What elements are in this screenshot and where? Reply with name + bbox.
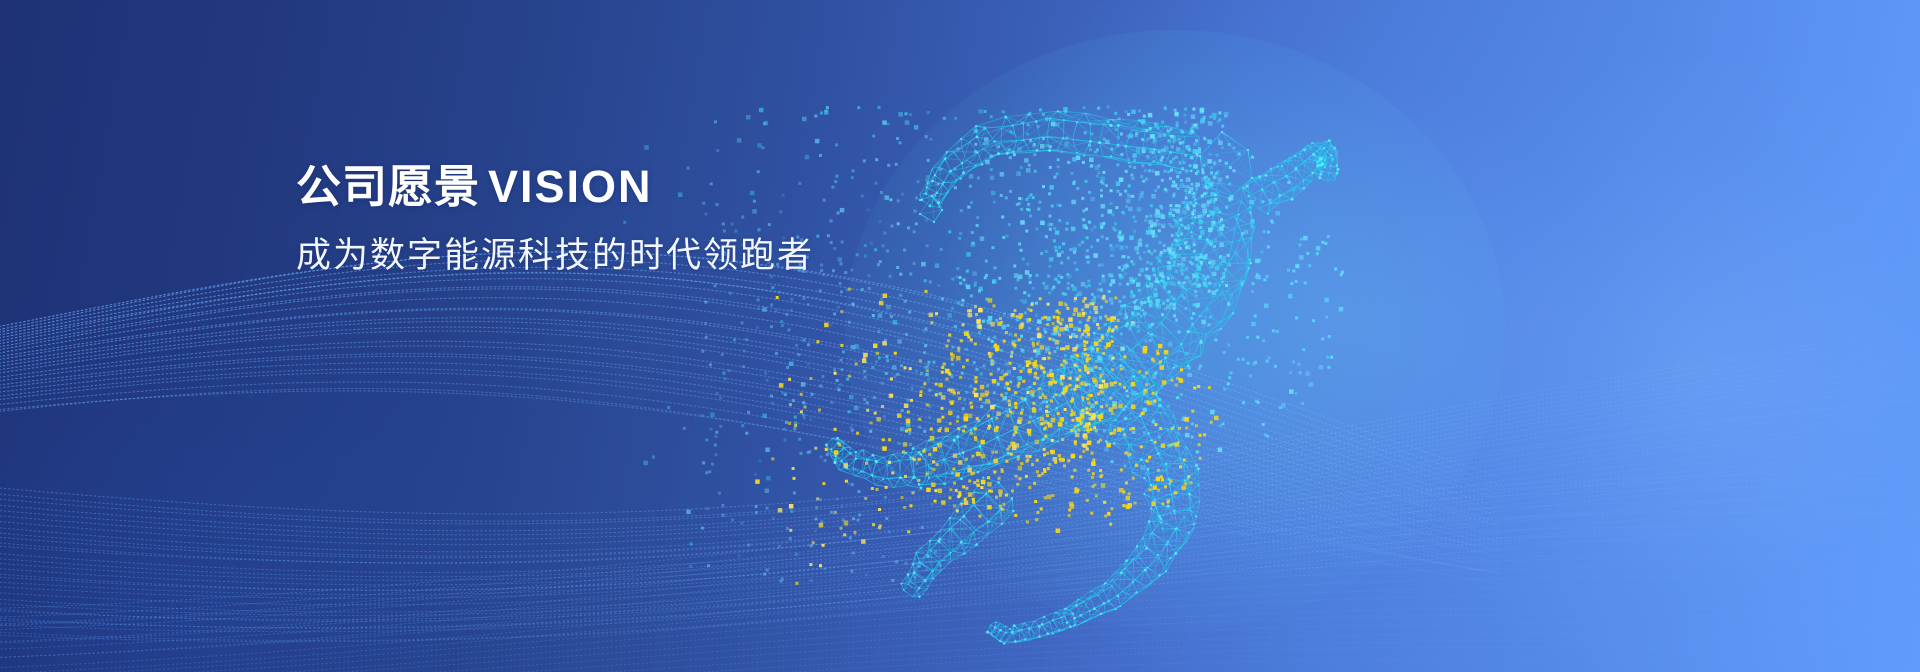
page-title-cn: 公司愿景: [296, 161, 480, 212]
particle-field-graphic: [0, 0, 1920, 672]
background-glow-right: [1380, 60, 1920, 672]
vision-text-block: 公司愿景VISION 成为数字能源科技的时代领跑者: [296, 160, 814, 277]
wireframe-runner-graphic: [0, 0, 1920, 672]
page-subtitle: 成为数字能源科技的时代领跑者: [296, 235, 814, 277]
background-glow-runner: [900, 0, 1800, 672]
background-glow-left: [0, 300, 640, 672]
vision-banner: 公司愿景VISION 成为数字能源科技的时代领跑者: [0, 0, 1920, 672]
page-title-en: VISION: [480, 161, 653, 212]
page-title: 公司愿景VISION: [296, 160, 814, 213]
wave-lines-graphic: [0, 0, 1920, 672]
